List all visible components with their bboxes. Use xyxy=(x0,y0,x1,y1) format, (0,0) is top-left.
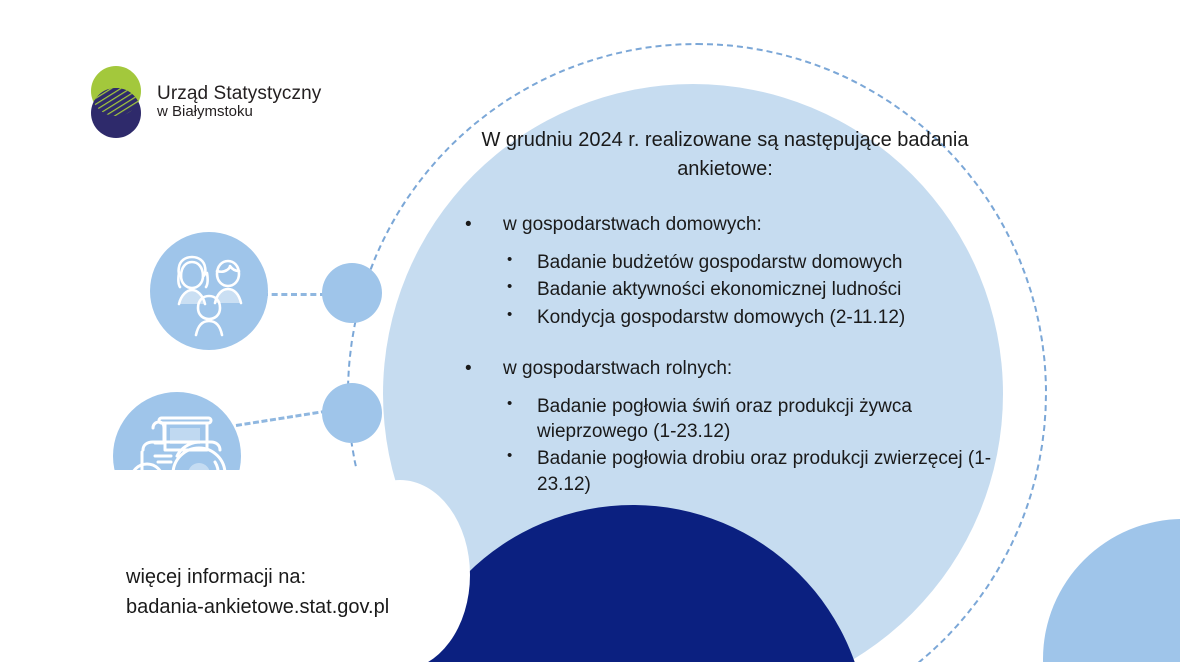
list-item-label: Badanie pogłowia drobiu oraz produkcji z… xyxy=(537,448,991,494)
group-title-label: w gospodarstwach domowych: xyxy=(503,214,762,235)
footer-line1: więcej informacji na: xyxy=(126,562,389,592)
group-spacer xyxy=(455,336,995,358)
list-item: • Badanie aktywności ekonomicznej ludnoś… xyxy=(455,277,995,302)
bullet-glyph: • xyxy=(507,446,512,466)
bullet-glyph: • xyxy=(465,358,472,380)
list-item: • Badanie budżetów gospodarstw domowych xyxy=(455,250,995,275)
group-title-label: w gospodarstwach rolnych: xyxy=(503,358,732,379)
list-item-label: Badanie pogłowia świń oraz produkcji żyw… xyxy=(537,396,912,442)
connector-dash-farm xyxy=(236,410,327,427)
logo-name-line2: w Białymstoku xyxy=(157,104,321,121)
list-item: • Badanie pogłowia drobiu oraz produkcji… xyxy=(455,446,995,497)
bullet-glyph: • xyxy=(507,250,512,270)
bullet-glyph: • xyxy=(507,394,512,414)
family-icon xyxy=(150,232,268,350)
logo-mark-icon xyxy=(85,63,147,141)
logo: Urząd Statystyczny w Białymstoku xyxy=(85,52,325,152)
headline: W grudniu 2024 r. realizowane są następu… xyxy=(455,126,995,184)
group-households: • w gospodarstwach domowych: • Badanie b… xyxy=(455,214,995,330)
survey-list-farms: • Badanie pogłowia świń oraz produkcji ż… xyxy=(455,394,995,497)
bullet-glyph: • xyxy=(507,305,512,325)
list-item-label: Kondycja gospodarstw domowych (2-11.12) xyxy=(537,307,905,328)
corner-accent-circle xyxy=(1043,519,1180,662)
household-icon-bubble xyxy=(150,232,268,350)
bullet-glyph: • xyxy=(507,277,512,297)
connector-dot-farm xyxy=(322,383,382,443)
group-farms: • w gospodarstwach rolnych: • Badanie po… xyxy=(455,358,995,497)
connector-dash-household xyxy=(262,293,326,296)
survey-list-households: • Badanie budżetów gospodarstw domowych … xyxy=(455,250,995,330)
main-content: W grudniu 2024 r. realizowane są następu… xyxy=(455,126,995,503)
list-item-label: Badanie aktywności ekonomicznej ludności xyxy=(537,279,901,300)
logo-text: Urząd Statystyczny w Białymstoku xyxy=(157,83,321,121)
connector-dot-household xyxy=(322,263,382,323)
list-item: • Badanie pogłowia świń oraz produkcji ż… xyxy=(455,394,995,445)
list-item-label: Badanie budżetów gospodarstw domowych xyxy=(537,252,902,273)
bullet-glyph: • xyxy=(465,214,472,236)
poster-canvas: Urząd Statystyczny w Białymstoku xyxy=(0,0,1180,662)
group-title: • w gospodarstwach domowych: xyxy=(455,214,995,236)
logo-name-line1: Urząd Statystyczny xyxy=(157,83,321,104)
footer-info: więcej informacji na: badania-ankietowe.… xyxy=(126,562,389,622)
footer-website-link[interactable]: badania-ankietowe.stat.gov.pl xyxy=(126,596,389,618)
group-title: • w gospodarstwach rolnych: xyxy=(455,358,995,380)
list-item: • Kondycja gospodarstw domowych (2-11.12… xyxy=(455,305,995,330)
